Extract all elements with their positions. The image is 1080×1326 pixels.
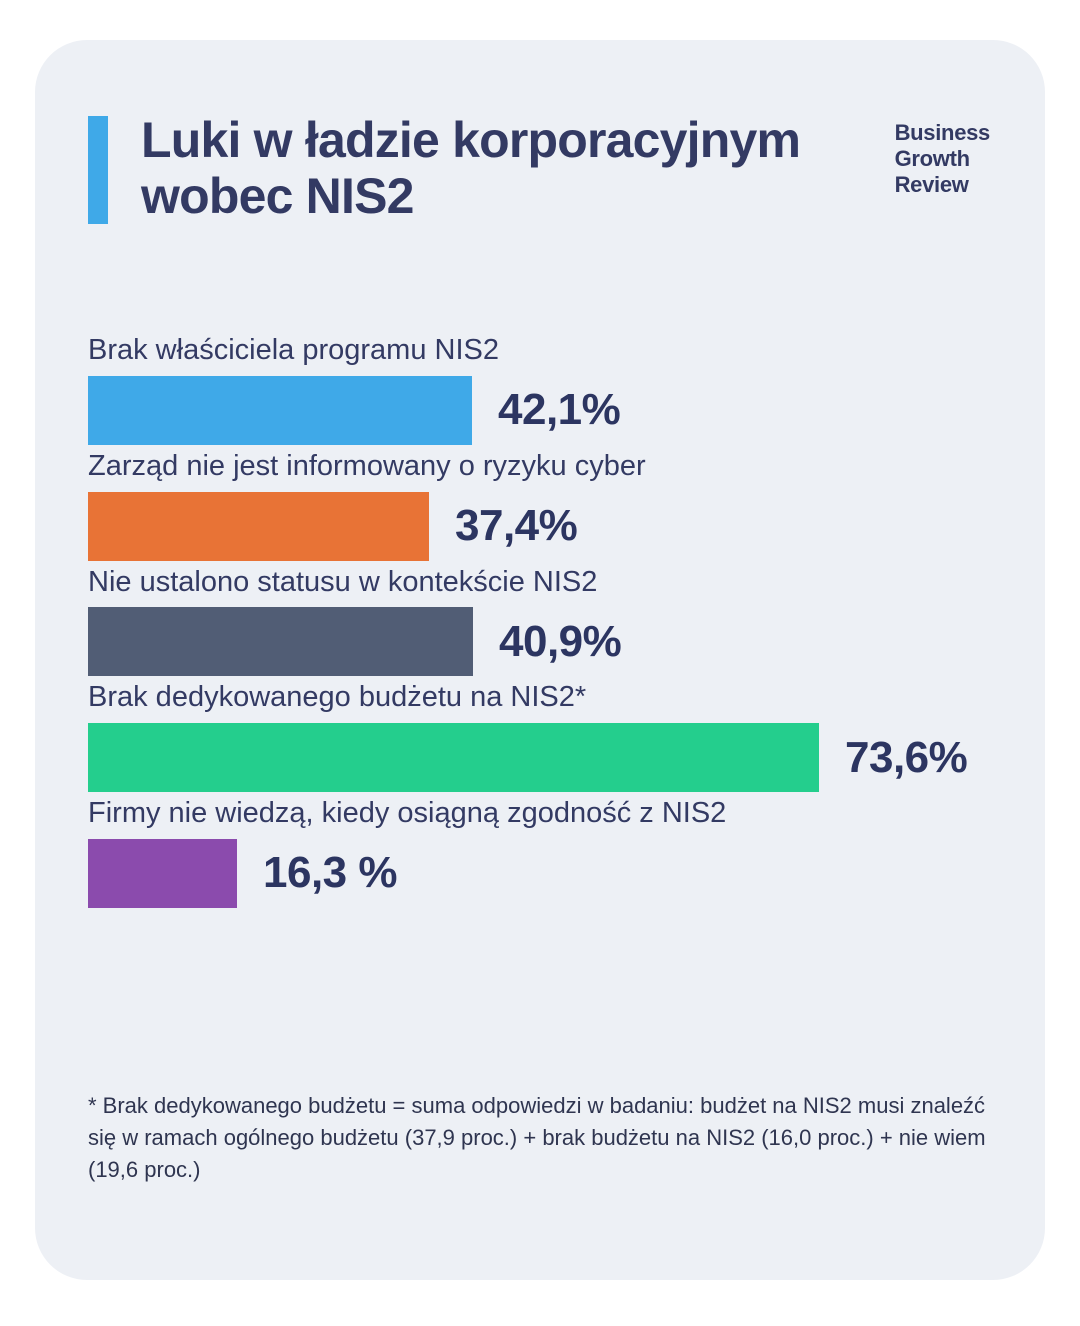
bar-rect <box>88 607 473 676</box>
bar-label: Nie ustalono statusu w kontekście NIS2 <box>88 565 1018 600</box>
bar-line: 42,1% <box>88 376 1018 445</box>
chart-row: Zarząd nie jest informowany o ryzyku cyb… <box>88 449 1018 561</box>
bar-value: 37,4% <box>455 501 577 551</box>
bar-label: Zarząd nie jest informowany o ryzyku cyb… <box>88 449 1018 484</box>
bar-chart: Brak właściciela programu NIS242,1%Zarzą… <box>88 333 1018 912</box>
bar-line: 40,9% <box>88 607 1018 676</box>
bar-rect <box>88 723 819 792</box>
header: Luki w ładzie korporacyjnym wobec NIS2 B… <box>88 112 1035 224</box>
bar-value: 16,3 % <box>263 848 397 898</box>
infographic-card: Luki w ładzie korporacyjnym wobec NIS2 B… <box>35 40 1045 1280</box>
bar-line: 73,6% <box>88 723 1018 792</box>
bar-label: Brak dedykowanego budżetu na NIS2* <box>88 680 1018 715</box>
chart-row: Firmy nie wiedzą, kiedy osiągną zgodność… <box>88 796 1018 908</box>
title-group: Luki w ładzie korporacyjnym wobec NIS2 <box>88 112 861 224</box>
bar-line: 16,3 % <box>88 839 1018 908</box>
brand-logo: Business Growth Review <box>895 120 990 198</box>
chart-row: Brak właściciela programu NIS242,1% <box>88 333 1018 445</box>
bar-label: Firmy nie wiedzą, kiedy osiągną zgodność… <box>88 796 1018 831</box>
footnote: * Brak dedykowanego budżetu = suma odpow… <box>88 1090 993 1186</box>
page-title: Luki w ładzie korporacyjnym wobec NIS2 <box>108 112 861 224</box>
bar-rect <box>88 376 472 445</box>
chart-row: Brak dedykowanego budżetu na NIS2*73,6% <box>88 680 1018 792</box>
bar-value: 42,1% <box>498 385 620 435</box>
bar-rect <box>88 492 429 561</box>
chart-row: Nie ustalono statusu w kontekście NIS240… <box>88 565 1018 677</box>
bar-label: Brak właściciela programu NIS2 <box>88 333 1018 368</box>
title-accent-bar <box>88 116 108 224</box>
bar-value: 73,6% <box>845 733 967 783</box>
bar-value: 40,9% <box>499 617 621 667</box>
bar-rect <box>88 839 237 908</box>
bar-line: 37,4% <box>88 492 1018 561</box>
